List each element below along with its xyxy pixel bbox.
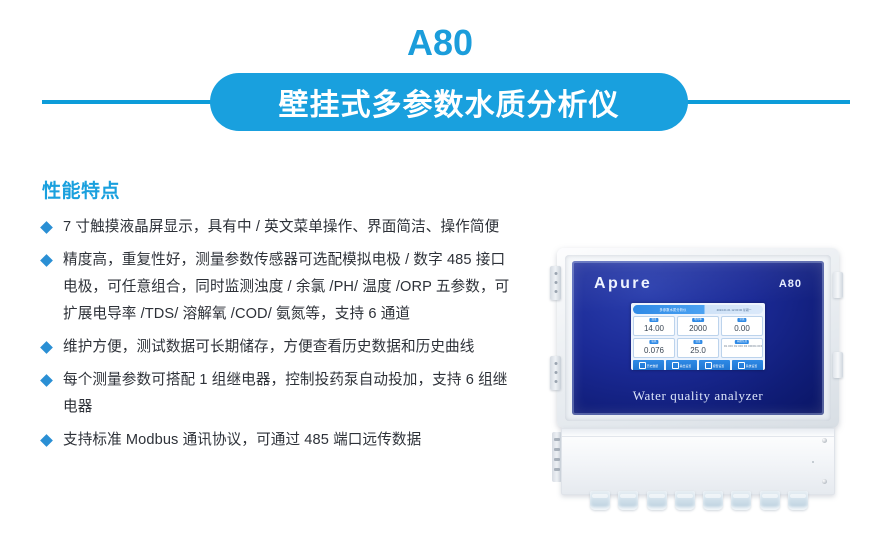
enclosure-latch-bottom	[833, 352, 843, 378]
diamond-bullet-icon	[40, 374, 53, 387]
lcd-measurement-card[interactable]: 浊度 14.00	[633, 316, 675, 336]
lcd-button-label: 历史数据	[647, 364, 659, 368]
hinge-dot	[554, 362, 557, 365]
enclosure-hinge-top	[550, 266, 561, 300]
feature-text: 每个测量参数可搭配 1 组继电器，控制投药泵自动投加，支持 6 组继电器	[63, 372, 507, 415]
page-header: A80 壁挂式多参数水质分析仪	[0, 0, 880, 140]
hinge-dot	[554, 371, 557, 374]
feature-list-item: 每个测量参数可搭配 1 组继电器，控制投药泵自动投加，支持 6 组继电器	[42, 367, 512, 421]
diamond-bullet-icon	[40, 434, 53, 447]
terminal-housing	[561, 428, 835, 495]
cable-gland	[590, 491, 610, 510]
terminal-screw	[822, 438, 827, 443]
device-display-face: Apure A80 多参数水质分析仪 2024.01.01 12:00:00 星…	[572, 261, 824, 415]
page-title-model: A80	[0, 22, 880, 64]
diamond-bullet-icon	[40, 341, 53, 354]
rail-notch	[554, 458, 560, 461]
lcd-button-bar: 历史数据 输出设置 报警设置 系统设置	[633, 360, 763, 370]
features-heading: 性能特点	[42, 176, 512, 203]
hinge-dot	[554, 272, 557, 275]
features-section: 性能特点 7 寸触摸液晶屏显示，具有中 / 英文菜单操作、界面简洁、操作简便 精…	[42, 176, 512, 460]
grid-icon	[672, 362, 679, 369]
chart-icon	[639, 362, 646, 369]
cable-gland	[788, 491, 808, 510]
lcd-button-alarm[interactable]: 报警设置	[699, 360, 730, 370]
lcd-button-history[interactable]: 历史数据	[633, 360, 664, 370]
product-title-banner: 壁挂式多参数水质分析仪	[210, 73, 688, 131]
feature-text: 7 寸触摸液晶屏显示，具有中 / 英文菜单操作、界面简洁、操作简便	[63, 219, 499, 235]
lcd-card-tag: 温度	[693, 340, 702, 344]
feature-list-item: 支持标准 Modbus 通讯协议，可通过 485 端口远传数据	[42, 427, 512, 454]
lcd-button-label: 输出设置	[680, 364, 692, 368]
lcd-button-label: 系统设置	[746, 364, 758, 368]
lcd-measurement-card[interactable]: 电导率 2000	[677, 316, 719, 336]
lcd-card-value: 25.0	[690, 346, 706, 355]
lcd-button-settings[interactable]: 系统设置	[732, 360, 763, 370]
lcd-measurement-grid: 浊度 14.00 电导率 2000 余氯 0.00 氨氮 0.076	[633, 316, 763, 358]
device-enclosure: Apure A80 多参数水质分析仪 2024.01.01 12:00:00 星…	[557, 248, 839, 428]
lcd-clock: 2024.01.01 12:00:00 星期一	[709, 308, 759, 312]
brand-logo-text: Apure	[594, 275, 652, 293]
lcd-card-value: 14.00	[644, 324, 664, 333]
gear-icon	[738, 362, 745, 369]
lcd-status-line: R1 OFF R2 OFF R3 OFF	[724, 345, 753, 349]
lcd-card-tag: 系统信息	[735, 340, 749, 344]
diamond-bullet-icon	[40, 254, 53, 267]
rail-notch	[554, 448, 560, 451]
terminal-screw	[822, 479, 827, 484]
cable-gland	[675, 491, 695, 510]
lcd-screen: 多参数水质分析仪 2024.01.01 12:00:00 星期一 浊度 14.0…	[631, 303, 765, 370]
lcd-measurement-card[interactable]: 氨氮 0.076	[633, 338, 675, 358]
cable-gland	[731, 491, 751, 510]
device-model-badge: A80	[779, 278, 802, 290]
header-rule-left	[42, 100, 217, 104]
feature-list-item: 精度高，重复性好，测量参数传感器可选配模拟电极 / 数字 485 接口电极，可任…	[42, 247, 512, 328]
hinge-dot	[554, 380, 557, 383]
feature-list-item: 维护方便，测试数据可长期储存，方便查看历史数据和历史曲线	[42, 334, 512, 361]
feature-list-item: 7 寸触摸液晶屏显示，具有中 / 英文菜单操作、界面简洁、操作简便	[42, 214, 512, 241]
feature-text: 维护方便，测试数据可长期储存，方便查看历史数据和历史曲线	[63, 339, 474, 355]
lcd-button-label: 报警设置	[713, 364, 725, 368]
rail-notch	[554, 468, 560, 471]
terminal-lip	[562, 429, 834, 437]
lcd-measurement-card[interactable]: 余氯 0.00	[721, 316, 763, 336]
header-rule-right	[676, 100, 850, 104]
hinge-dot	[554, 290, 557, 293]
cable-gland	[760, 491, 780, 510]
lcd-card-value: 0.00	[734, 324, 750, 333]
cable-gland-row	[590, 491, 808, 510]
lcd-card-tag: 电导率	[692, 318, 704, 322]
device-tagline: Water quality analyzer	[572, 388, 824, 404]
lcd-status-line: R4 OFF R5 OFF	[753, 345, 763, 349]
lcd-card-tag: 氨氮	[649, 340, 658, 344]
lcd-card-value: 0.076	[644, 346, 664, 355]
lcd-measurement-card[interactable]: 温度 25.0	[677, 338, 719, 358]
feature-text: 精度高，重复性好，测量参数传感器可选配模拟电极 / 数字 485 接口电极，可任…	[63, 252, 509, 322]
lcd-card-tag: 浊度	[649, 318, 658, 322]
product-title-text: 壁挂式多参数水质分析仪	[279, 80, 620, 124]
enclosure-latch-top	[833, 272, 843, 298]
monitor-icon	[705, 362, 712, 369]
lcd-card-value: 2000	[689, 324, 707, 333]
rail-notch	[554, 438, 560, 441]
enclosure-hinge-bottom	[550, 356, 561, 390]
feature-text: 支持标准 Modbus 通讯协议，可通过 485 端口远传数据	[63, 432, 421, 448]
lcd-title: 多参数水质分析仪	[637, 307, 709, 312]
product-photo: Apure A80 多参数水质分析仪 2024.01.01 12:00:00 星…	[533, 232, 880, 559]
cable-gland	[618, 491, 638, 510]
lcd-button-output[interactable]: 输出设置	[666, 360, 697, 370]
hinge-dot	[554, 281, 557, 284]
terminal-pin	[812, 461, 814, 463]
lcd-status-card[interactable]: 系统信息 R1 OFF R2 OFF R3 OFF R4 OFF R5 OFF	[721, 338, 763, 358]
lcd-card-tag: 余氯	[737, 318, 746, 322]
diamond-bullet-icon	[40, 221, 53, 234]
cable-gland	[703, 491, 723, 510]
lcd-title-bar: 多参数水质分析仪 2024.01.01 12:00:00 星期一	[633, 305, 763, 314]
cable-gland	[647, 491, 667, 510]
